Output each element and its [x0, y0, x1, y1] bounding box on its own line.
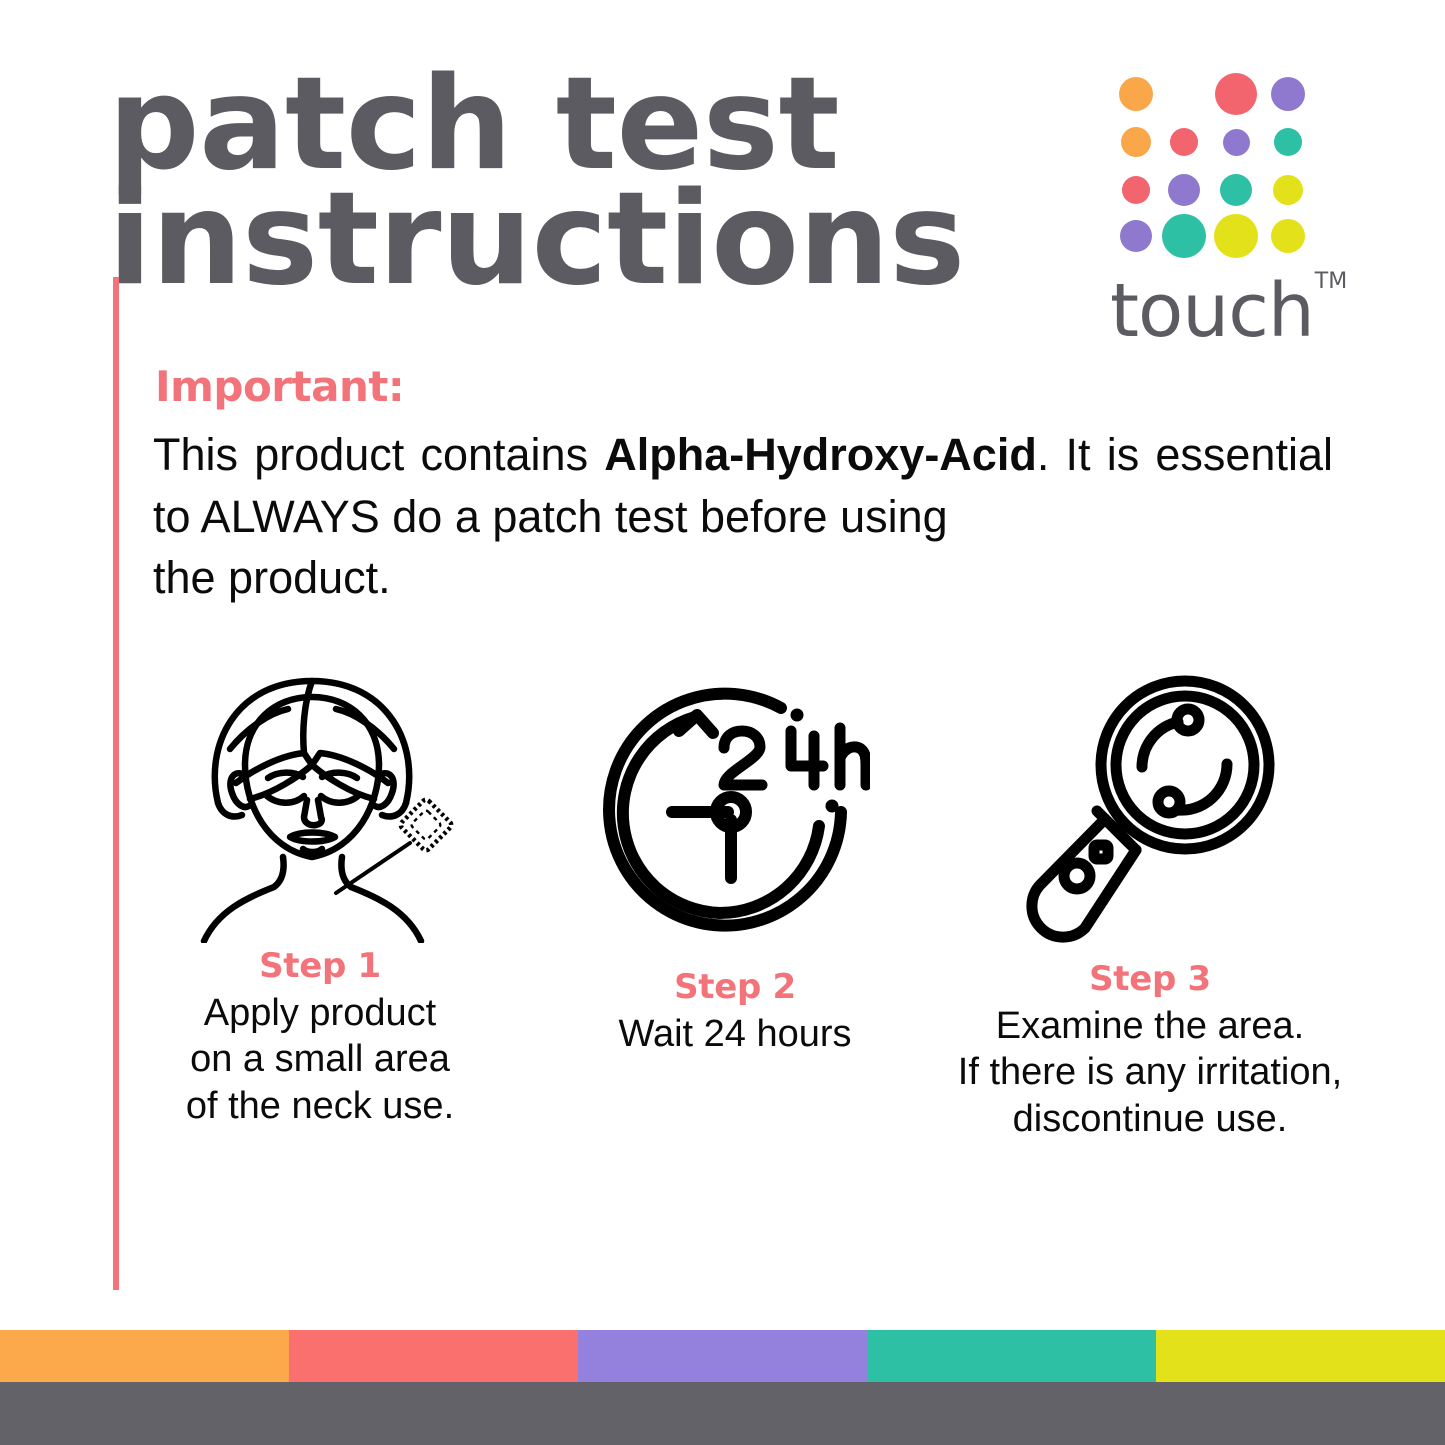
logo-dot-r1-c2 [1162, 72, 1206, 116]
logo-dot-r4-c2 [1162, 214, 1206, 258]
logo-dot-r3-c1 [1122, 176, 1150, 204]
patch-test-instructions-card: patch test instructions touchTM Importan… [0, 0, 1445, 1445]
notice-text-before: This product contains [153, 429, 604, 480]
touch-logo [1116, 74, 1331, 254]
trademark-mark: TM [1315, 269, 1347, 294]
color-stripe-1 [0, 1330, 289, 1382]
step-2-caption: Wait 24 hours [618, 1011, 851, 1057]
color-stripe-2 [289, 1330, 578, 1382]
step-3-label: Step 3 [1089, 959, 1211, 999]
clock-24h-icon [600, 686, 870, 948]
color-stripe-4 [867, 1330, 1156, 1382]
vertical-accent-rule [113, 277, 119, 1290]
magnifying-glass-icon [1005, 673, 1295, 945]
brand-wordmark: touchTM [1110, 274, 1346, 348]
logo-dot-r4-c1 [1120, 220, 1152, 252]
steps-row: Step 1 Apply product on a small area of … [120, 650, 1350, 1142]
notice-paragraph: This product contains Alpha-Hydroxy-Acid… [153, 424, 1333, 609]
logo-dot-r2-c1 [1121, 127, 1151, 157]
logo-dot-r4-c3 [1214, 214, 1258, 258]
logo-dot-r2-c4 [1274, 128, 1302, 156]
color-stripe-3 [578, 1330, 867, 1382]
important-label: Important: [155, 362, 404, 411]
page-title: patch test instructions [108, 62, 1098, 303]
color-stripe-5 [1156, 1330, 1445, 1382]
logo-dot-r3-c3 [1220, 174, 1252, 206]
face-with-towel-and-patch-icon [170, 653, 470, 943]
logo-dot-r3-c4 [1273, 175, 1303, 205]
logo-dot-r1-c4 [1271, 77, 1305, 111]
logo-dot-r1-c3 [1215, 73, 1257, 115]
notice-bold-term: Alpha-Hydroxy-Acid [604, 429, 1037, 480]
step-3-artwork [1005, 659, 1295, 959]
step-3: Step 3 Examine the area. If there is any… [950, 659, 1350, 1142]
notice-text-last-line: the product. [153, 547, 1333, 609]
logo-dot-r4-c4 [1271, 219, 1305, 253]
footer-bar [0, 1382, 1445, 1445]
step-2-label: Step 2 [674, 967, 796, 1007]
page-title-line-2: instructions [108, 177, 1098, 304]
logo-dot-r2-c3 [1223, 129, 1250, 156]
step-1-caption: Apply product on a small area of the nec… [186, 990, 454, 1129]
logo-dot-grid [1116, 74, 1316, 254]
brand-color-stripes [0, 1330, 1445, 1382]
step-1: Step 1 Apply product on a small area of … [120, 650, 520, 1129]
logo-dot-r3-c2 [1168, 174, 1200, 206]
brand-name: touch [1110, 268, 1314, 354]
step-1-label: Step 1 [259, 946, 381, 986]
logo-dot-r1-c1 [1119, 77, 1153, 111]
step-2-artwork [600, 667, 870, 967]
step-1-artwork [170, 650, 470, 946]
logo-dot-r2-c2 [1170, 128, 1198, 156]
step-3-caption: Examine the area. If there is any irrita… [958, 1003, 1342, 1142]
step-2: Step 2 Wait 24 hours [535, 667, 935, 1057]
